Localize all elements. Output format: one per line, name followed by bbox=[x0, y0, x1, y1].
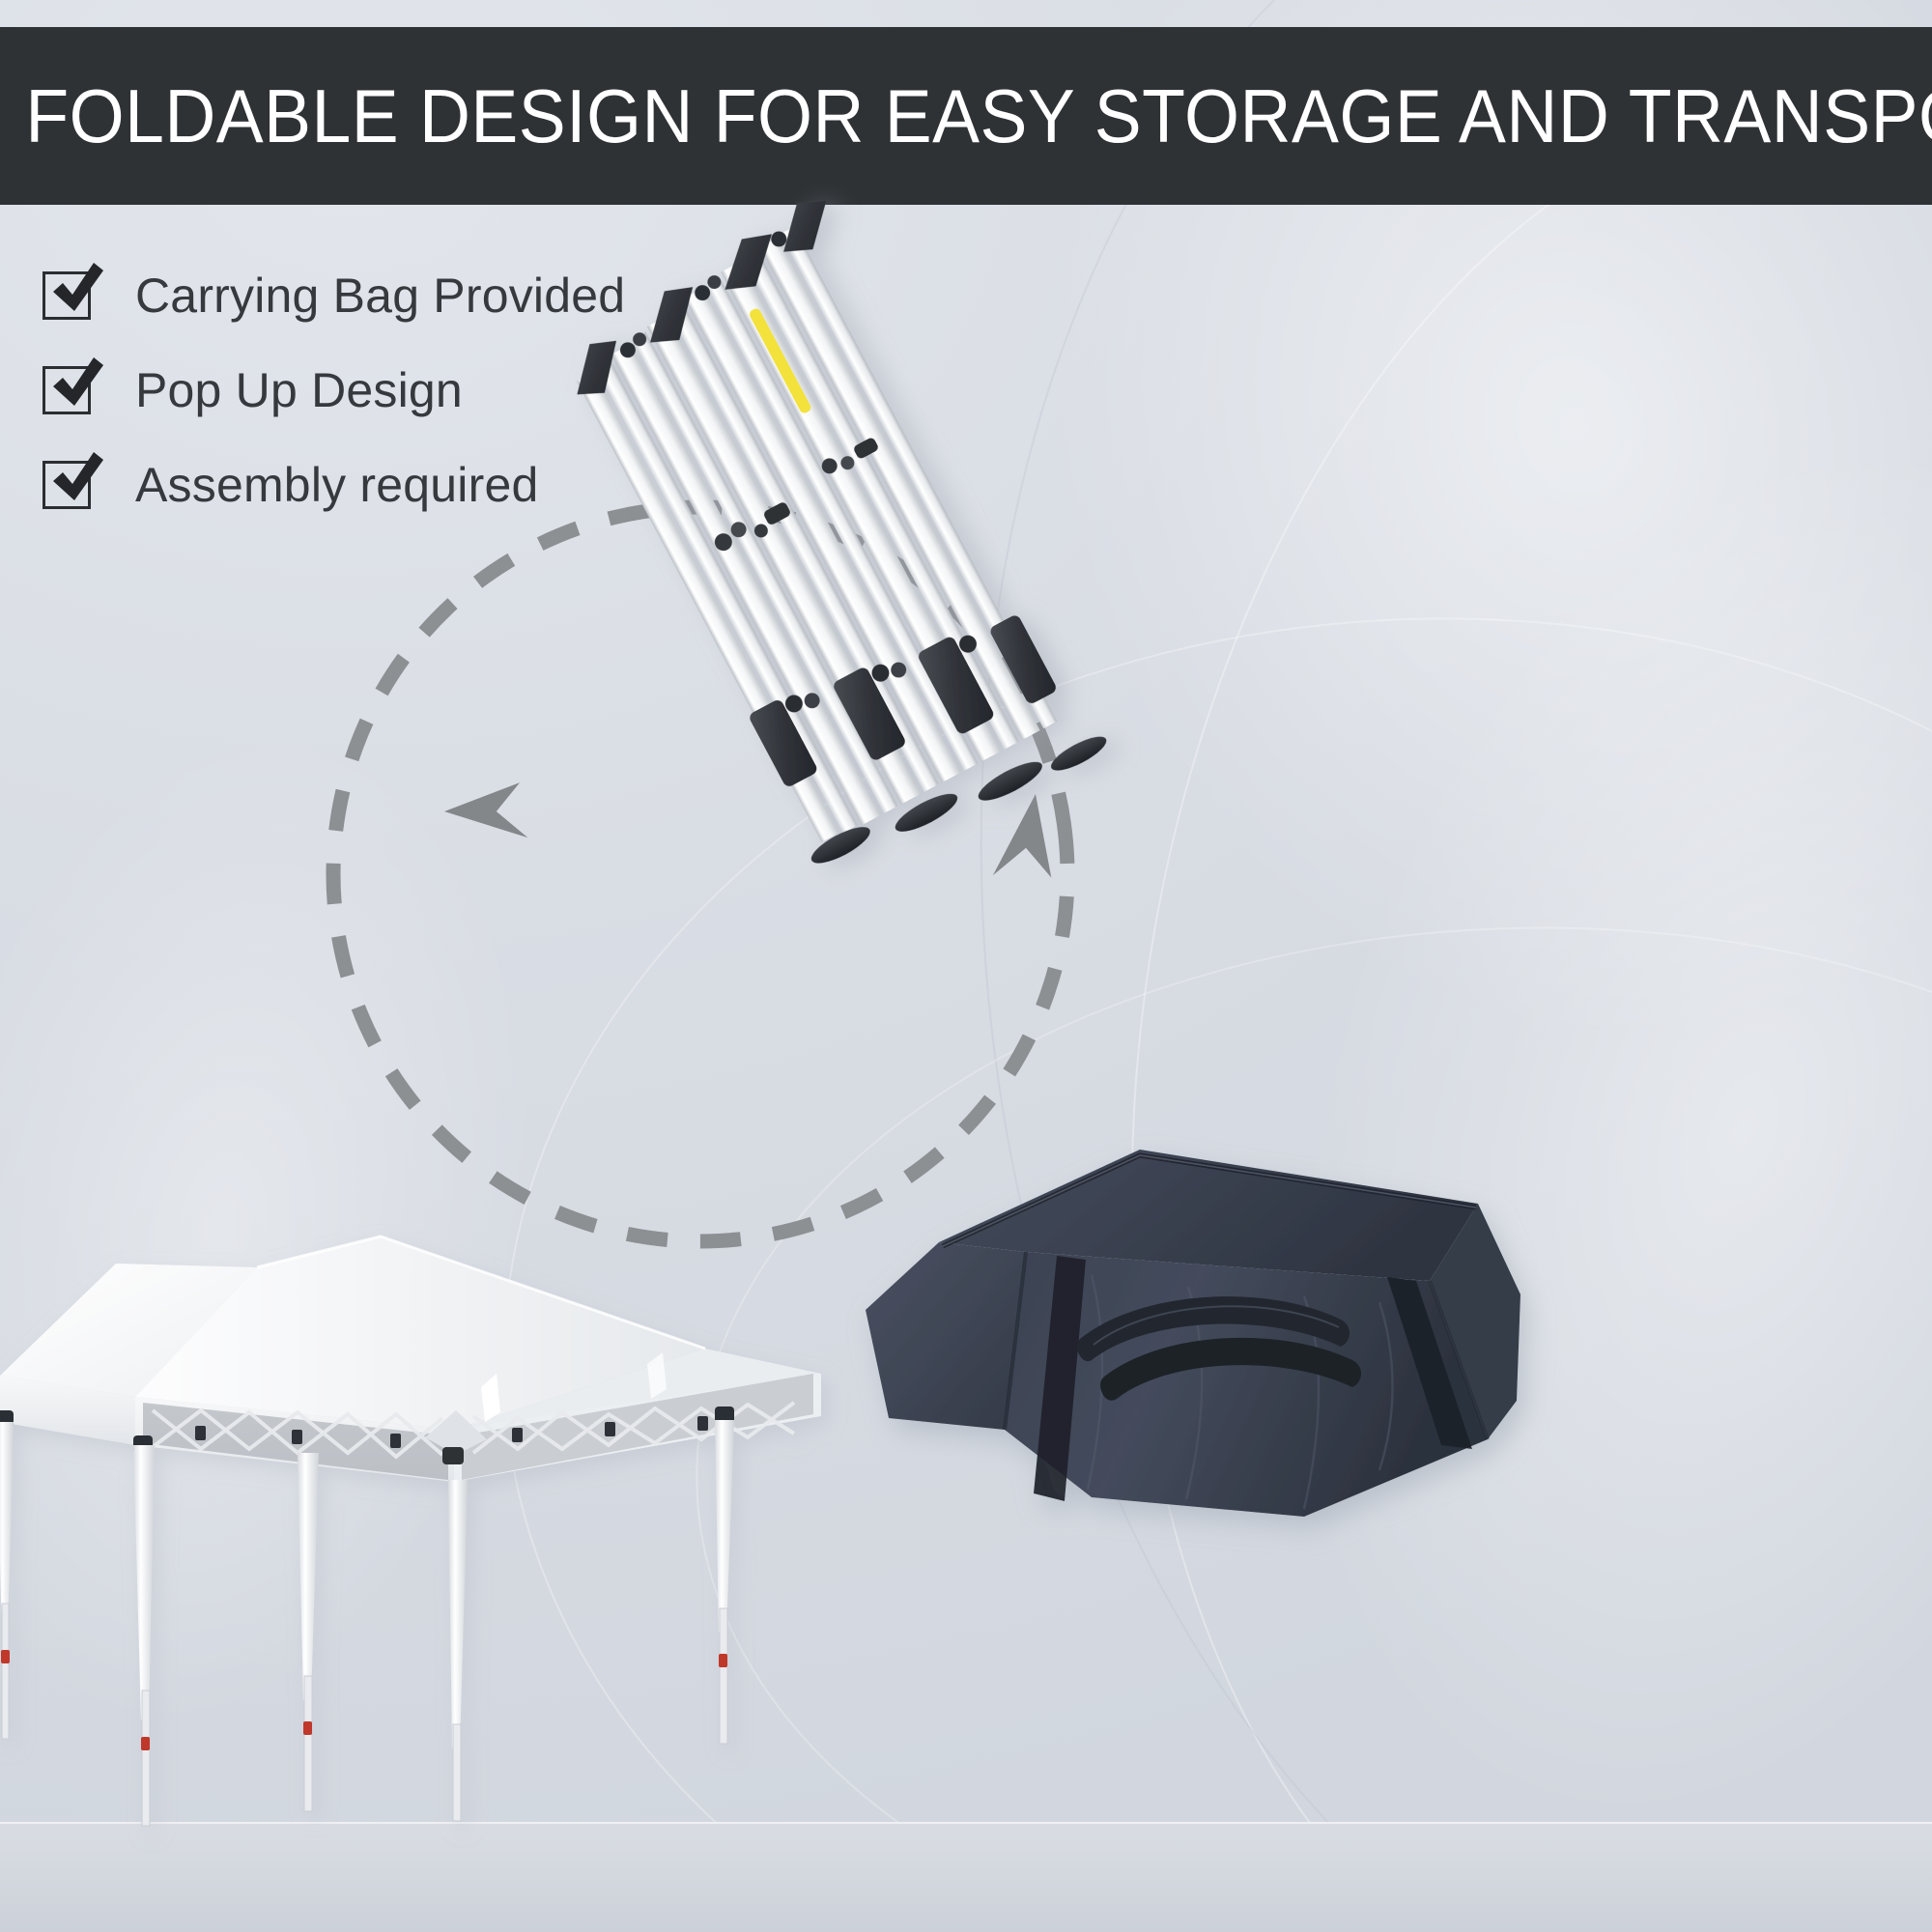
feature-list: Carrying Bag Provided Pop Up Design Asse… bbox=[33, 249, 902, 533]
checkbox-checked-icon bbox=[43, 366, 91, 414]
checkbox-checked-icon bbox=[43, 461, 91, 509]
feature-label: Assembly required bbox=[135, 457, 538, 513]
infographic-canvas: FOLDABLE DESIGN FOR EASY STORAGE AND TRA… bbox=[0, 0, 1932, 1932]
header-banner: FOLDABLE DESIGN FOR EASY STORAGE AND TRA… bbox=[0, 27, 1932, 205]
feature-item: Pop Up Design bbox=[33, 344, 902, 437]
feature-item: Assembly required bbox=[33, 439, 902, 531]
banner-title: FOLDABLE DESIGN FOR EASY STORAGE AND TRA… bbox=[0, 78, 1932, 154]
feature-item: Carrying Bag Provided bbox=[33, 249, 902, 342]
feature-label: Pop Up Design bbox=[135, 362, 463, 418]
feature-label: Carrying Bag Provided bbox=[135, 268, 625, 324]
background-floor bbox=[0, 1822, 1932, 1932]
checkbox-checked-icon bbox=[43, 271, 91, 320]
